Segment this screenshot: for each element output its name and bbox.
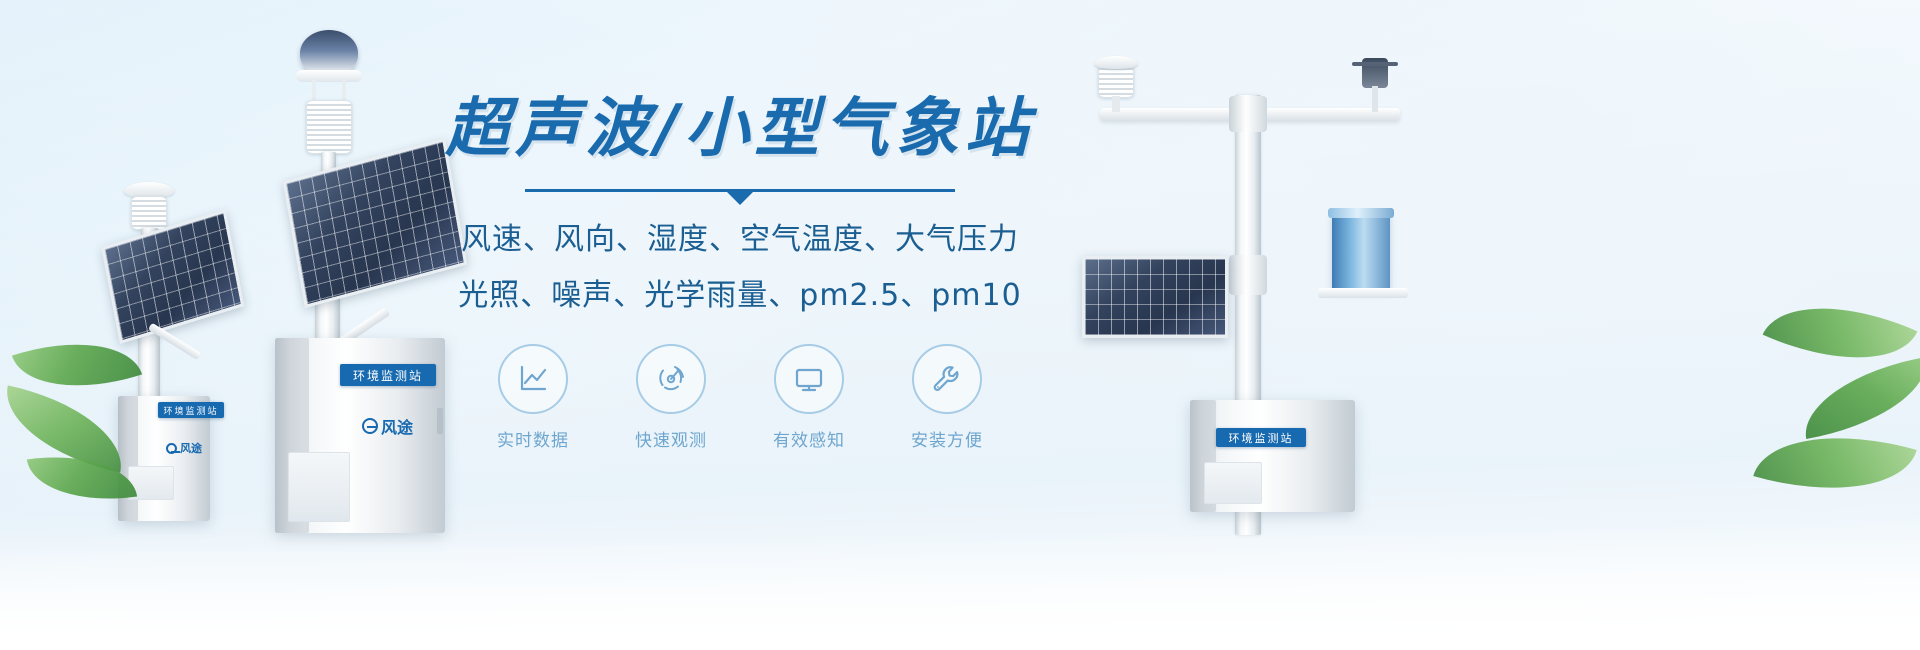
right-rain-gauge-shelf: [1318, 288, 1408, 298]
feature-label: 安装方便: [902, 426, 992, 451]
right-shield-cap: [1094, 56, 1138, 69]
subtitle-line-1: 风速、风向、湿度、空气温度、大气压力: [440, 214, 1040, 258]
center-sensor-base: [296, 70, 362, 82]
wrench-tool-icon: [912, 344, 982, 414]
feature-label: 快速观测: [626, 426, 716, 451]
left-solar-panel: [101, 209, 244, 344]
feature-label: 有效感知: [764, 426, 854, 451]
monitor-display-icon: [774, 344, 844, 414]
center-brand-text: 风途: [381, 414, 413, 438]
right-wind-vane-fin: [1352, 62, 1398, 66]
feature-list: 实时数据 快速观测: [440, 344, 1040, 451]
feature-label: 实时数据: [488, 426, 578, 451]
subtitle-line-2: 光照、噪声、光学雨量、pm2.5、pm10: [440, 270, 1040, 314]
right-cabinet-badge: 环境监测站: [1216, 428, 1306, 447]
center-cabinet-badge: 环境监测站: [340, 364, 436, 386]
left-radiation-shield: [131, 196, 167, 230]
center-cabinet-brand-logo: 风途: [362, 414, 413, 438]
center-radiation-shield: [306, 100, 352, 154]
left-cabinet-badge: 环境监测站: [158, 402, 224, 418]
feature-item-effective-sensing[interactable]: 有效感知: [764, 344, 854, 451]
right-mast-collar-upper: [1229, 96, 1267, 132]
feature-item-easy-installation[interactable]: 安装方便: [902, 344, 992, 451]
brand-mark-icon: [362, 418, 378, 434]
line-chart-icon: [498, 344, 568, 414]
leaf-right-mid: [1796, 357, 1920, 439]
feature-item-fast-observation[interactable]: 快速观测: [626, 344, 716, 451]
right-cabinet-vent: [1204, 462, 1262, 504]
left-cabinet-shadow-side: [118, 396, 138, 521]
left-brand-text: 风途: [180, 440, 202, 456]
product-banner: 环境监测站 风途 环境监测站 风途: [0, 0, 1920, 650]
divider-triangle-icon: [727, 192, 753, 205]
right-rain-gauge: [1332, 212, 1390, 290]
center-cabinet-vent: [288, 452, 350, 522]
feature-item-realtime-data[interactable]: 实时数据: [488, 344, 578, 451]
right-rain-gauge-rim: [1328, 208, 1394, 218]
brand-mark-icon: [166, 443, 177, 454]
right-wind-vane-rod: [1372, 86, 1378, 112]
left-cabinet-brand-logo: 风途: [166, 440, 202, 456]
page-title: 超声波/小型气象站: [440, 96, 1040, 163]
right-radiation-shield: [1098, 64, 1134, 98]
right-shield-drop-tube: [1112, 96, 1120, 112]
right-solar-panel: [1082, 256, 1228, 338]
ground-fade-overlay: [0, 530, 1920, 650]
radar-observation-icon: [636, 344, 706, 414]
banner-text-block: 超声波/小型气象站 风速、风向、湿度、空气温度、大气压力 光照、噪声、光学雨量、…: [440, 96, 1040, 451]
title-divider: [525, 189, 955, 192]
right-mast-collar-mid: [1229, 255, 1267, 295]
